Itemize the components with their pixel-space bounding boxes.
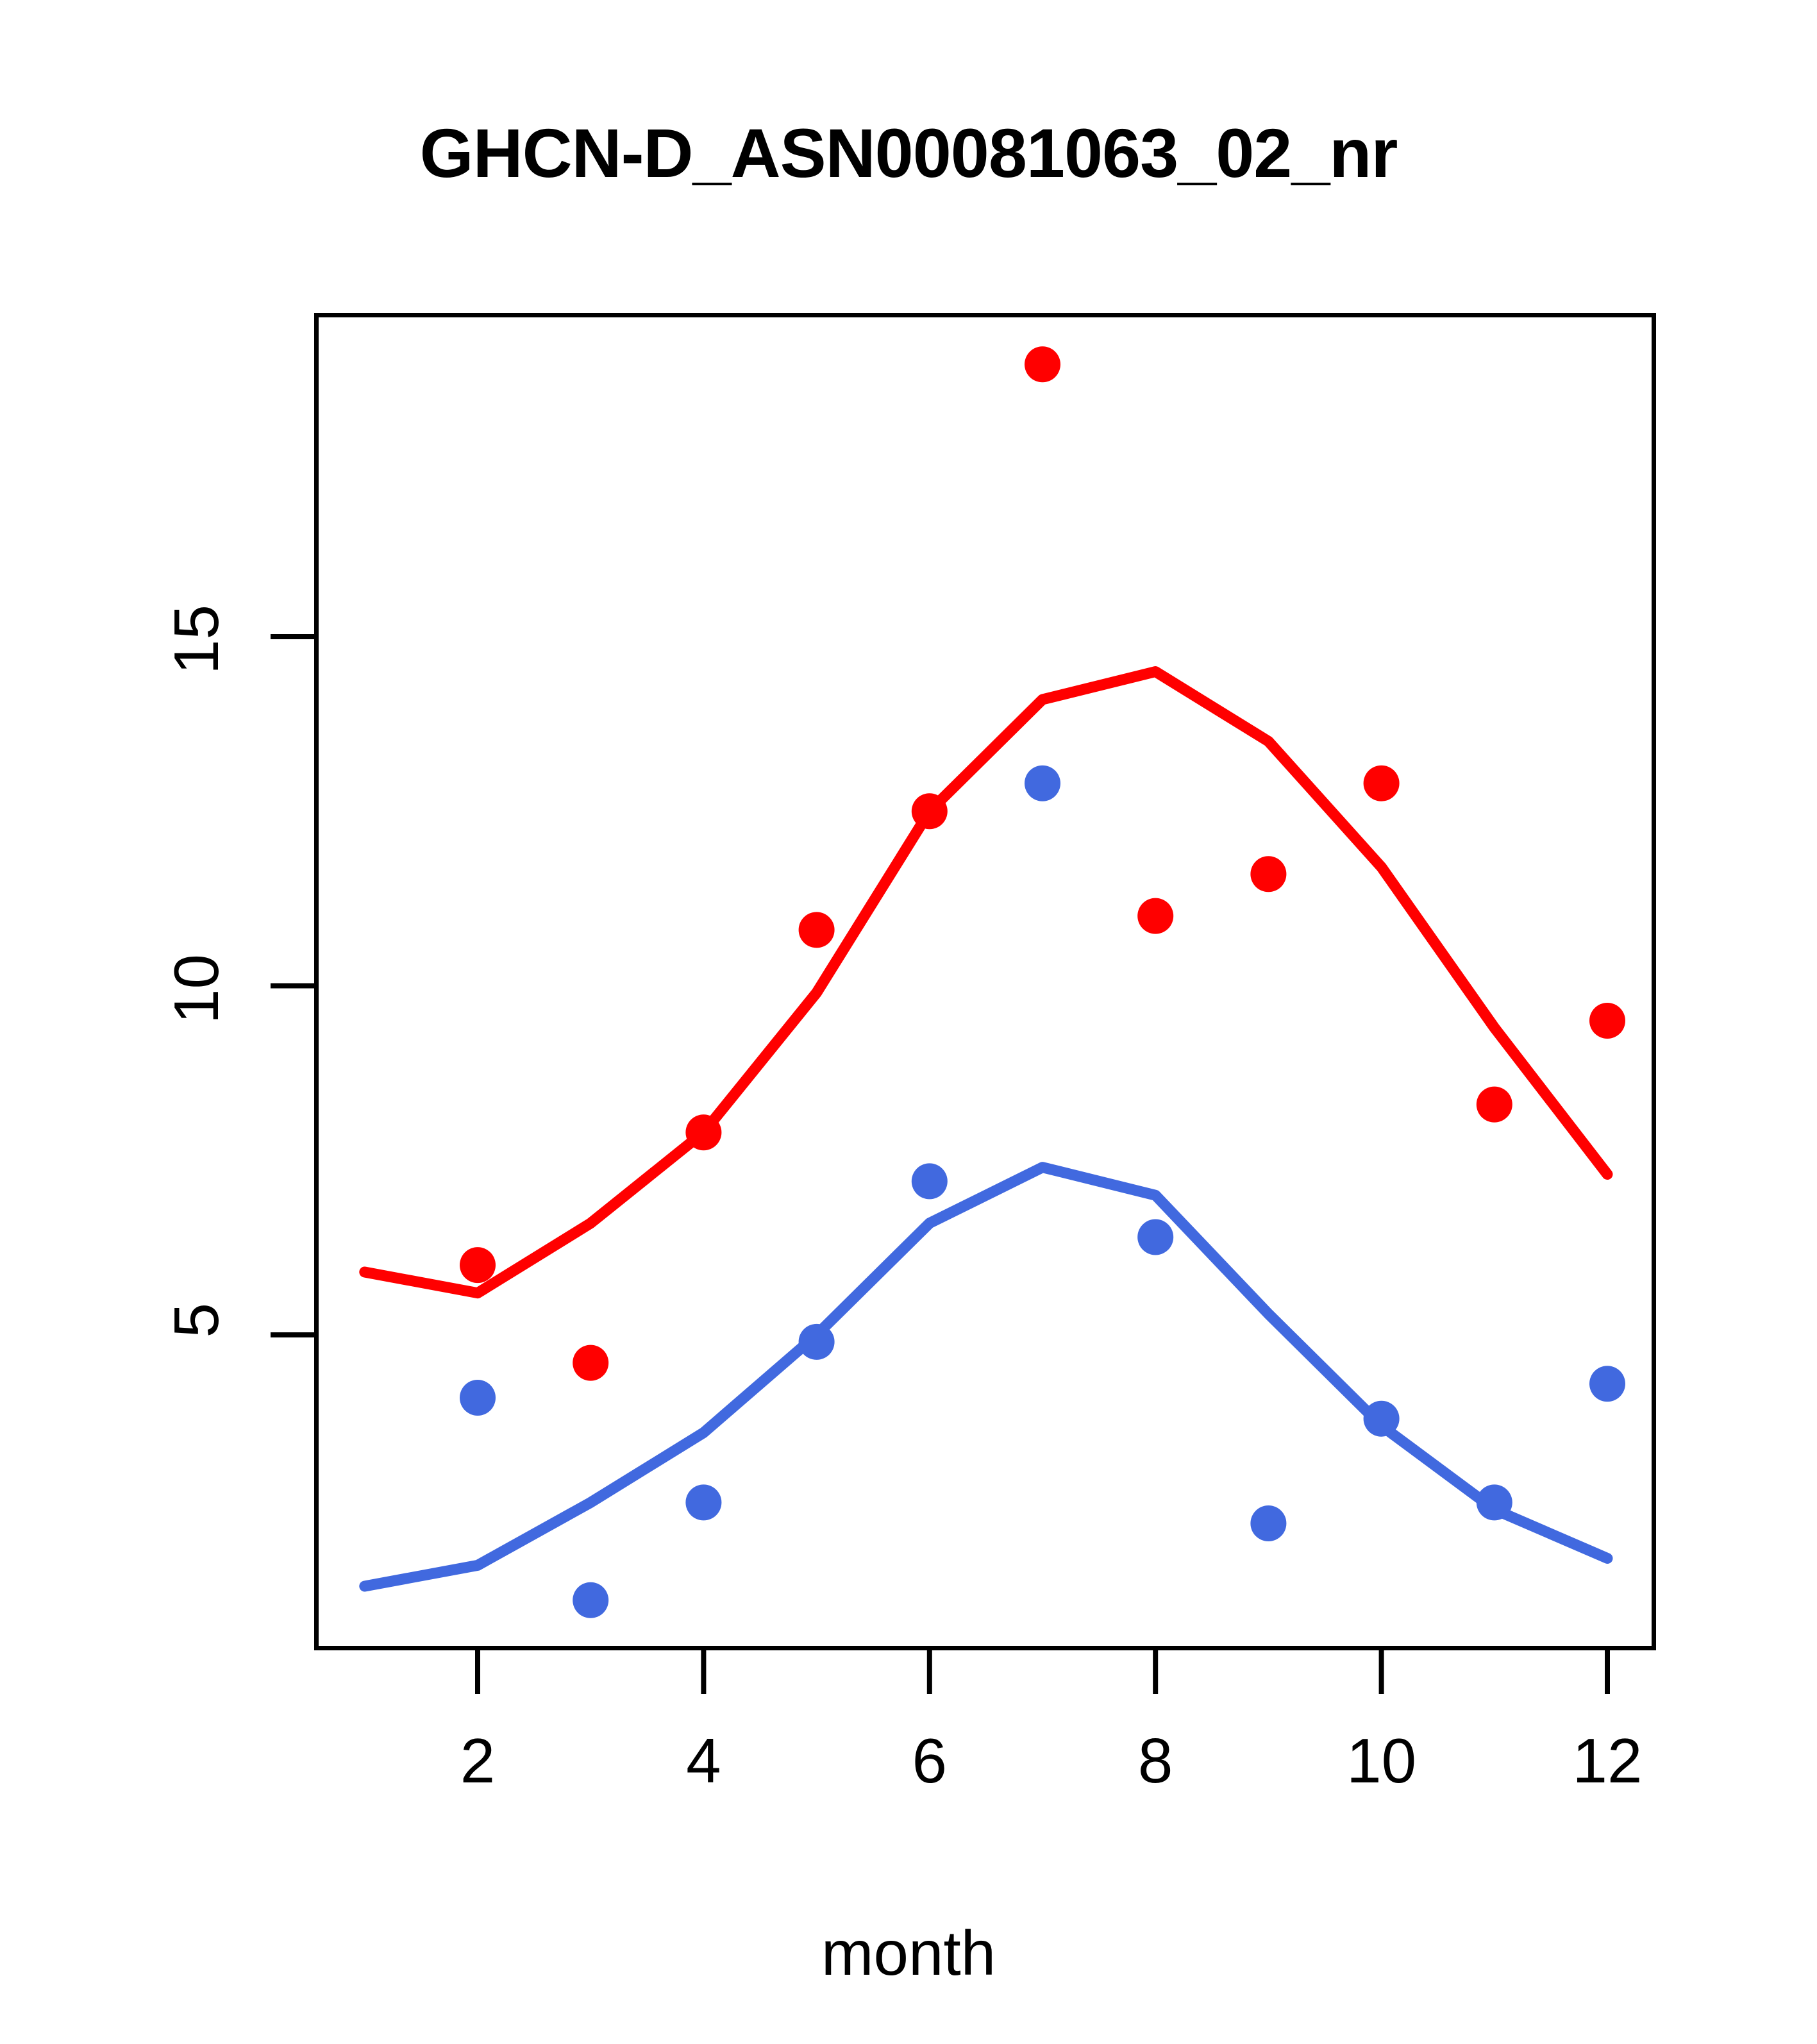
data-point <box>1137 1219 1173 1255</box>
data-point <box>573 1345 608 1381</box>
data-point <box>685 1484 721 1520</box>
data-point <box>1025 346 1060 382</box>
x-tick-label-2: 2 <box>381 1725 574 1797</box>
data-point <box>1025 766 1060 801</box>
x-tick-label-4: 4 <box>607 1725 800 1797</box>
data-point <box>1589 1003 1625 1039</box>
series-lines <box>365 672 1607 1587</box>
data-point <box>1250 856 1286 892</box>
data-point <box>460 1247 496 1283</box>
data-point <box>799 1324 835 1360</box>
x-tick-label-10: 10 <box>1285 1725 1478 1797</box>
data-point <box>1137 898 1173 934</box>
data-point <box>460 1380 496 1416</box>
x-axis-label: month <box>0 1917 1817 1990</box>
y-tick-label-10: 10 <box>160 916 233 1185</box>
series-line-3 <box>365 1168 1607 1586</box>
data-point <box>1477 1484 1512 1520</box>
data-point <box>1364 766 1400 801</box>
series-points <box>460 346 1625 1618</box>
x-tick-label-12: 12 <box>1511 1725 1704 1797</box>
data-point <box>912 1163 948 1199</box>
data-point <box>685 1114 721 1150</box>
data-point <box>799 912 835 948</box>
data-point <box>912 793 948 829</box>
data-point <box>1250 1505 1286 1541</box>
data-point <box>1589 1366 1625 1402</box>
y-tick-label-5: 5 <box>160 1264 233 1534</box>
data-point <box>1477 1087 1512 1123</box>
data-point <box>573 1582 608 1618</box>
figure-canvas: GHCN-D_ASN00081063_02_nr 15 10 5 2 4 6 8… <box>0 0 1817 2044</box>
x-tick-label-6: 6 <box>833 1725 1026 1797</box>
y-tick-label-15: 15 <box>160 566 233 835</box>
data-point <box>1364 1401 1400 1437</box>
x-tick-label-8: 8 <box>1059 1725 1252 1797</box>
